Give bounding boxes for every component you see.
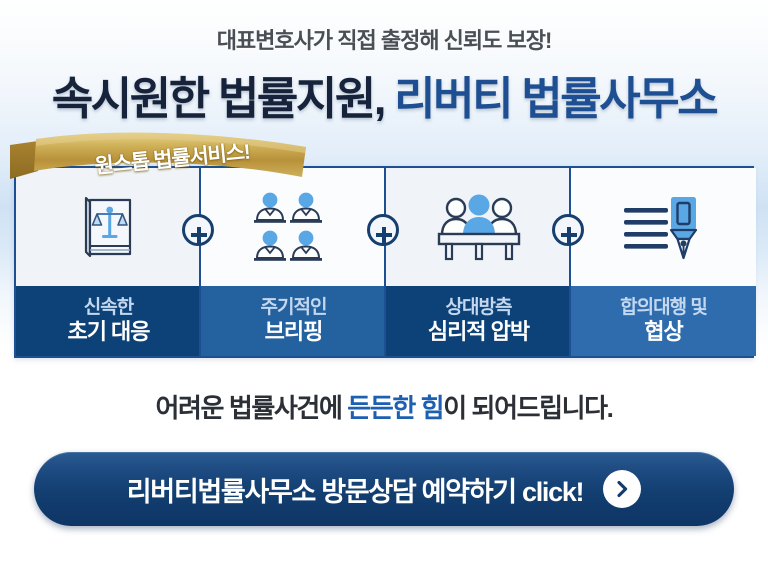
negotiation-table-icon [386,168,571,286]
tagline-highlight: 든든한 힘 [347,393,443,423]
page-title: 속시원한 법률지원, 리버티 법률사무소 [0,62,768,127]
service-panel-label: 신속한 초기 대응 [16,286,201,356]
service-panel-label: 상대방측 심리적 압박 [386,286,571,356]
plus-icon [375,226,393,244]
chevron-right-icon[interactable] [603,470,641,508]
service-label-top: 합의대행 및 [620,297,707,318]
service-label-bottom: 심리적 압박 [428,320,529,345]
service-panel-pressure: 상대방측 심리적 압박 [386,168,571,356]
onestop-ribbon-badge: 원스톱 법률서비스! [8,131,308,187]
plus-connector-2 [384,168,386,356]
headline-part-two: 리버티 법률사무소 [384,73,716,124]
contract-pen-icon [571,168,756,286]
cta-button[interactable]: 리버티법률사무소 방문상담 예약하기 click! [34,452,734,526]
plus-icon [560,226,578,244]
headline-part-one: 속시원한 법률지원, [52,73,384,124]
plus-connector-3 [569,168,571,356]
service-panel-briefing: 주기적인 브리핑 [201,168,386,356]
service-label-top: 주기적인 [261,297,327,318]
tagline-before: 어려운 법률사건에 [155,393,347,423]
promo-banner: 대표변호사가 직접 출정해 신뢰도 보장! 속시원한 법률지원, 리버티 법률사… [0,0,768,561]
tagline: 어려운 법률사건에 든든한 힘이 되어드립니다. [0,388,768,425]
service-panel-label: 주기적인 브리핑 [201,286,386,356]
service-panel-initial-response: 신속한 초기 대응 [16,168,201,356]
tagline-after: 이 되어드립니다. [443,393,612,423]
service-label-bottom: 협상 [644,320,682,345]
sub-headline: 대표변호사가 직접 출정해 신뢰도 보장! [0,23,768,55]
service-label-top: 상대방측 [446,297,512,318]
service-panel-label: 합의대행 및 협상 [571,286,756,356]
cta-label: 리버티법률사무소 방문상담 예약하기 click! [127,470,584,509]
plus-icon [190,226,208,244]
service-panel-settlement: 합의대행 및 협상 [571,168,756,356]
plus-connector-1 [199,168,201,356]
service-label-top: 신속한 [84,297,133,318]
service-label-bottom: 브리핑 [265,320,323,345]
cta-content: 리버티법률사무소 방문상담 예약하기 click! [127,470,642,509]
service-label-bottom: 초기 대응 [67,320,149,345]
